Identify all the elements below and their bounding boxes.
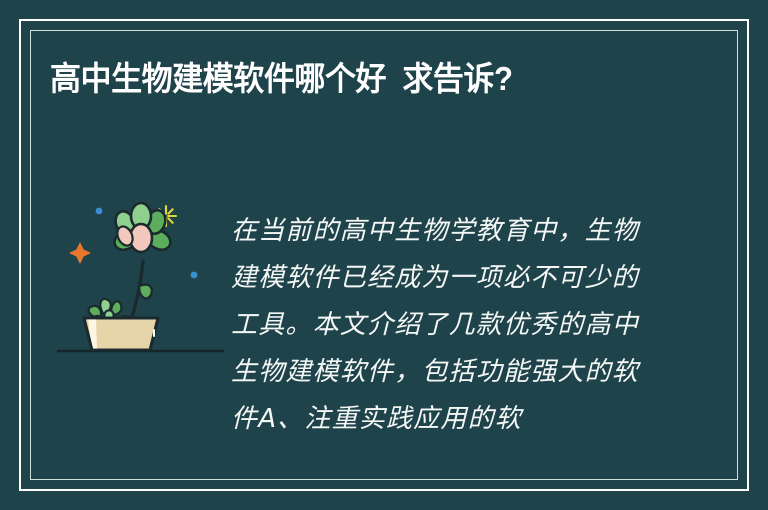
article-card: 高中生物建模软件哪个好 求告诉? xyxy=(0,0,768,510)
article-body: 在当前的高中生物学教育中，生物建模软件已经成为一项必不可少的工具。本文介绍了几款… xyxy=(231,208,655,443)
page-title: 高中生物建模软件哪个好 求告诉? xyxy=(50,56,633,102)
potted-plant-illustration xyxy=(55,188,230,368)
stem-leaf-icon xyxy=(139,285,152,299)
blue-dot-icon xyxy=(96,208,103,215)
flower-pot xyxy=(84,318,158,350)
plant-stem xyxy=(131,261,152,321)
flower-head xyxy=(111,203,174,254)
blue-dot-icon xyxy=(191,272,198,279)
orange-star-icon xyxy=(69,242,91,264)
